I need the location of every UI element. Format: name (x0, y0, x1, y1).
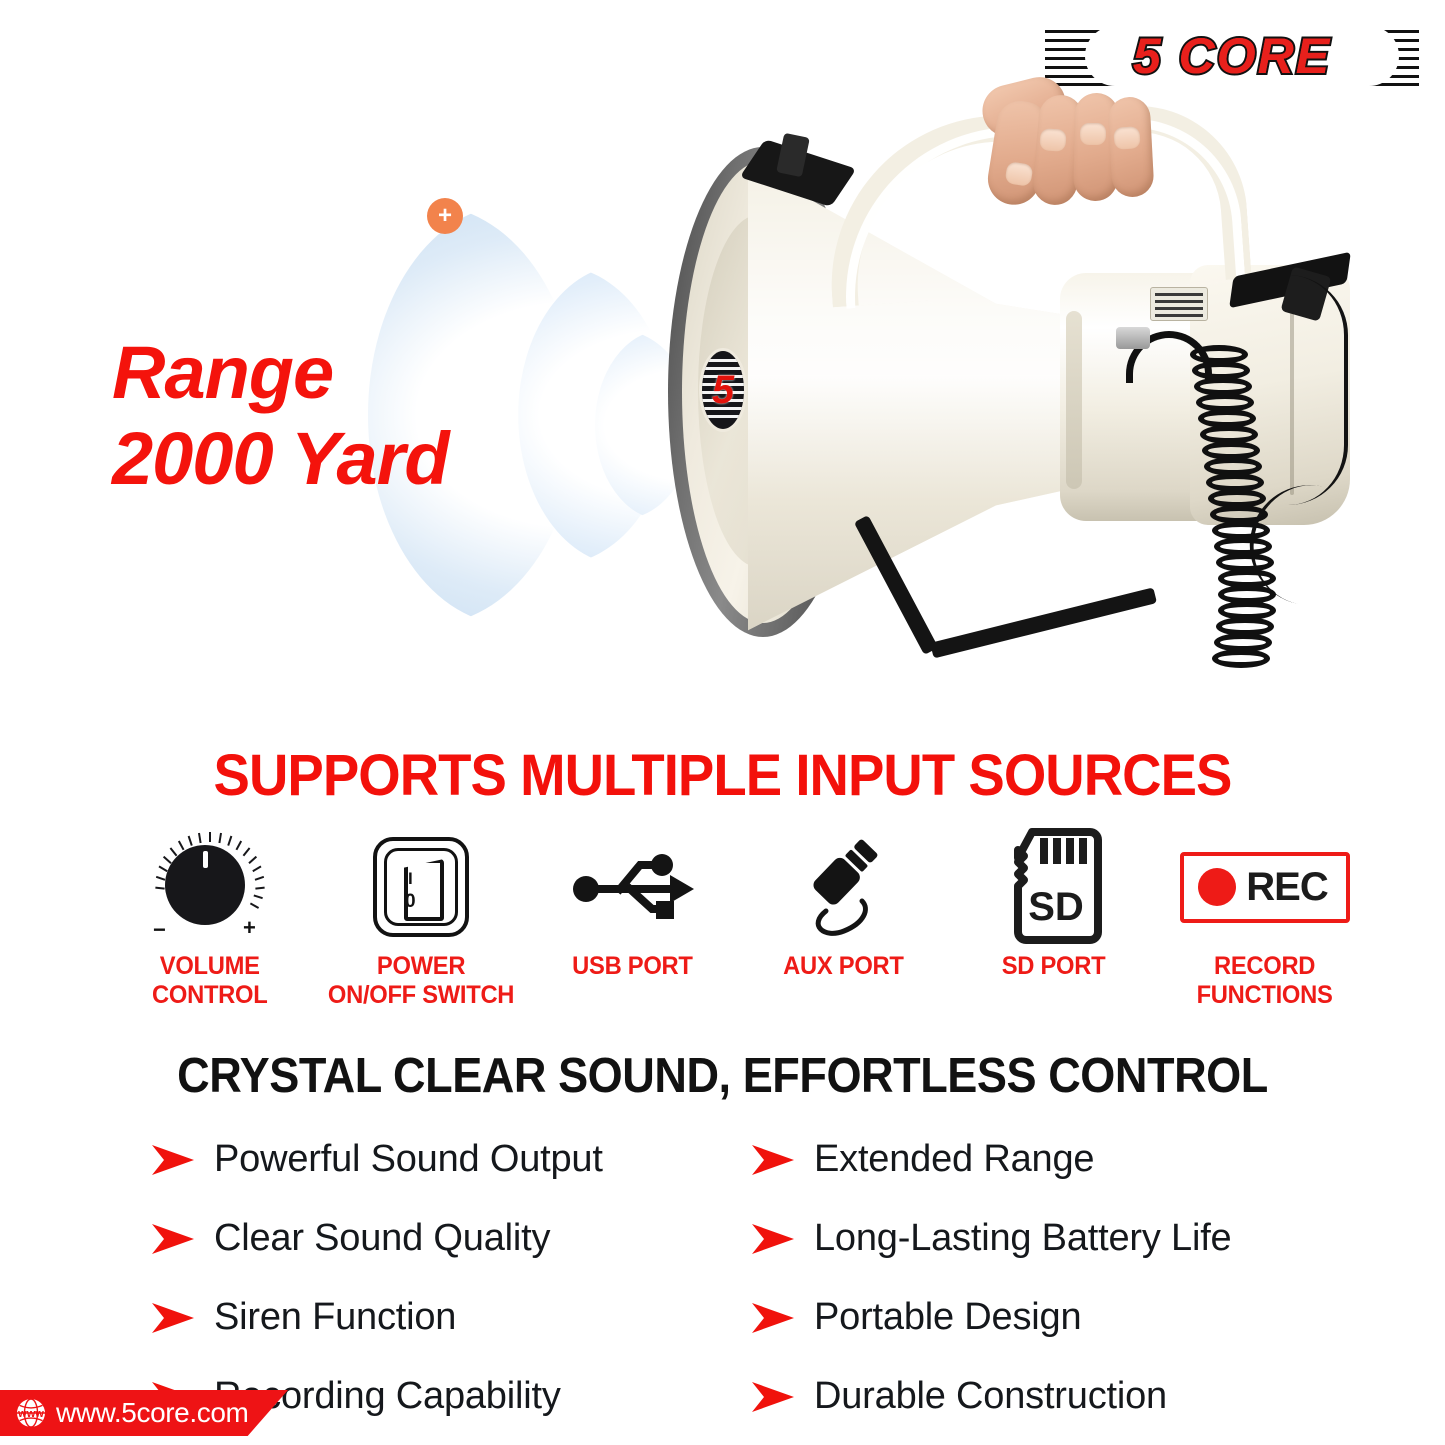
knob-pointer (203, 851, 208, 868)
feature-label: Siren Function (214, 1296, 456, 1339)
power-rocker-switch-icon: I 0 (373, 828, 469, 946)
source-item-volume-control[interactable]: − + VOLUME CONTROL (110, 828, 310, 1010)
megaphone-product-image: 5 (630, 95, 1370, 695)
feature-label: Clear Sound Quality (214, 1217, 550, 1260)
fingernail (1039, 128, 1066, 152)
source-label-sd-port: SD PORT (1002, 952, 1106, 981)
range-callout: Range 2000 Yard (112, 330, 572, 502)
plus-badge-icon: + (427, 198, 463, 234)
horn-badge-text: 5 (702, 351, 744, 429)
label-line-2: CONTROL (152, 981, 267, 1010)
label-line-1: RECORD (1197, 952, 1333, 981)
source-label-volume-control: VOLUME CONTROL (152, 952, 267, 1010)
features-heading: CRYSTAL CLEAR SOUND, EFFORTLESS CONTROL (58, 1048, 1387, 1104)
feature-label: Portable Design (814, 1296, 1081, 1339)
feature-item: Siren Function (150, 1286, 750, 1349)
knob-plus-label: + (243, 917, 256, 939)
source-label-record-functions: RECORD FUNCTIONS (1197, 952, 1333, 1010)
sources-heading: SUPPORTS MULTIPLE INPUT SOURCES (43, 742, 1401, 809)
coiled-microphone-cable (1190, 345, 1340, 695)
feature-item: Portable Design (750, 1286, 1420, 1349)
source-item-power-switch[interactable]: I 0 POWER ON/OFF SWITCH (321, 828, 521, 1010)
horn-brand-badge: 5 (702, 351, 744, 429)
red-arrow-bullet-icon (750, 1380, 796, 1414)
red-arrow-bullet-icon (150, 1222, 196, 1256)
source-label-power-switch: POWER ON/OFF SWITCH (328, 952, 514, 1010)
cable-jack-connector (1116, 327, 1150, 349)
feature-label: Long-Lasting Battery Life (814, 1217, 1232, 1260)
fingernail (1080, 123, 1106, 145)
red-arrow-bullet-icon (150, 1301, 196, 1335)
label-line-1: POWER (328, 952, 514, 981)
svg-text:www: www (17, 1408, 44, 1420)
red-arrow-bullet-icon (750, 1143, 796, 1177)
knob-minus-label: − (153, 919, 166, 941)
range-line-2: 2000 Yard (112, 416, 572, 502)
record-label: REC (1246, 865, 1327, 910)
input-sources-row: − + VOLUME CONTROL I 0 POWER ON/OFF SWIT… (110, 828, 1365, 1023)
switch-on-mark: I (408, 869, 413, 889)
label-line-2: ON/OFF SWITCH (328, 981, 514, 1010)
website-url[interactable]: www.5core.com (56, 1397, 248, 1429)
website-banner[interactable]: www www.5core.com (0, 1390, 288, 1436)
range-line-1: Range (112, 330, 572, 416)
source-item-sd-port[interactable]: SD SD PORT (954, 828, 1154, 981)
sd-card-label: SD (1028, 885, 1084, 929)
feature-item: Powerful Sound Output (150, 1128, 750, 1191)
logo-text: 5 CORE (1037, 22, 1427, 90)
red-arrow-bullet-icon (150, 1143, 196, 1177)
megaphone-barrel-band (1066, 311, 1082, 489)
label-line-1: SD PORT (1002, 952, 1106, 981)
five-core-logo: 5 CORE 5 CORE (1037, 22, 1427, 90)
amplifier-vent-icon (1150, 287, 1208, 321)
feature-item: Durable Construction (750, 1365, 1420, 1428)
usb-icon (568, 828, 696, 946)
record-icon: REC (1180, 828, 1349, 946)
label-line-1: VOLUME (152, 952, 267, 981)
label-line-1: USB PORT (572, 952, 692, 981)
source-item-usb-port[interactable]: USB PORT (532, 828, 732, 981)
www-globe-icon: www (16, 1398, 46, 1428)
label-line-1: AUX PORT (783, 952, 903, 981)
features-list: Powerful Sound Output Extended Range Cle… (150, 1128, 1420, 1378)
label-line-2: FUNCTIONS (1197, 981, 1333, 1010)
volume-knob-icon: − + (151, 828, 269, 946)
feature-item: Clear Sound Quality (150, 1207, 750, 1270)
hero-section: + Range 2000 Yard 5 (0, 0, 1445, 720)
fingernail (1113, 126, 1140, 150)
source-item-record-functions[interactable]: REC RECORD FUNCTIONS (1165, 828, 1365, 1010)
record-dot-icon (1198, 868, 1236, 906)
source-label-aux-port: AUX PORT (783, 952, 903, 981)
feature-label: Powerful Sound Output (214, 1138, 603, 1181)
feature-item: Long-Lasting Battery Life (750, 1207, 1420, 1270)
red-arrow-bullet-icon (750, 1301, 796, 1335)
aux-jack-icon (788, 828, 898, 946)
shoulder-strap (868, 515, 1188, 655)
feature-label: Durable Construction (814, 1375, 1167, 1418)
feature-item: Extended Range (750, 1128, 1420, 1191)
switch-off-mark: 0 (405, 891, 416, 913)
source-item-aux-port[interactable]: AUX PORT (743, 828, 943, 981)
red-arrow-bullet-icon (750, 1222, 796, 1256)
hand-gripping-handle (988, 101, 1160, 223)
feature-label: Extended Range (814, 1138, 1094, 1181)
sd-card-icon: SD (1006, 828, 1102, 946)
source-label-usb-port: USB PORT (572, 952, 692, 981)
